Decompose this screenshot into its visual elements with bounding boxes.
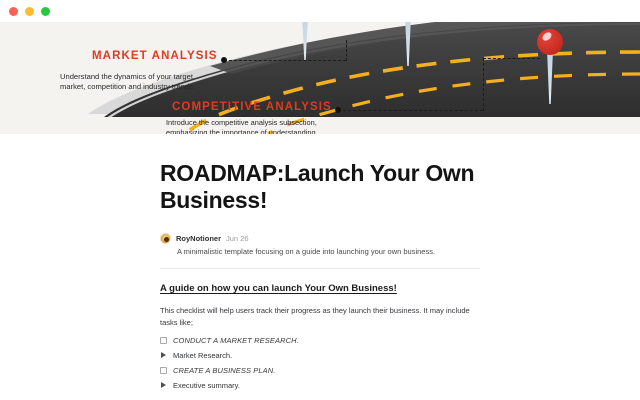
connector-vertical-market xyxy=(346,40,347,61)
checkbox-icon[interactable] xyxy=(160,337,167,344)
connector-vertical-competitive xyxy=(483,58,484,111)
cover-heading-competitive-analysis: COMPETITIVE ANALYSIS xyxy=(172,101,332,113)
chevron-right-icon[interactable] xyxy=(161,352,166,358)
toggle-item-market-research[interactable]: Market Research. xyxy=(161,351,640,360)
avatar xyxy=(160,233,171,244)
checkbox-icon[interactable] xyxy=(160,367,167,374)
minimize-button[interactable] xyxy=(25,7,34,16)
window-titlebar xyxy=(0,0,640,22)
bullet-competitive-analysis xyxy=(335,107,341,113)
checklist: CONDUCT A MARKET RESEARCH. Market Resear… xyxy=(160,336,640,390)
section-link[interactable]: A guide on how you can launch Your Own B… xyxy=(160,283,397,294)
list-item-label: Market Research. xyxy=(173,351,232,360)
cover-body-market-analysis: Understand the dynamics of your target m… xyxy=(60,72,195,93)
bullet-market-analysis xyxy=(221,57,227,63)
connector-line-market xyxy=(224,60,346,61)
page-subtitle: A minimalistic template focusing on a gu… xyxy=(177,247,640,256)
author-row: RoyNotioner Jun 26 xyxy=(160,233,640,244)
author-date: Jun 26 xyxy=(226,234,249,243)
list-item-label: CONDUCT A MARKET RESEARCH. xyxy=(173,336,299,345)
chevron-right-icon[interactable] xyxy=(161,382,166,388)
app-window: MARKET ANALYSIS Understand the dynamics … xyxy=(0,0,640,400)
intro-paragraph: This checklist will help users track the… xyxy=(160,305,482,328)
connector-top-competitive xyxy=(483,58,540,59)
cover-banner: MARKET ANALYSIS Understand the dynamics … xyxy=(0,22,640,134)
maximize-button[interactable] xyxy=(41,7,50,16)
list-item-label: CREATE A BUSINESS PLAN. xyxy=(173,366,275,375)
author-name[interactable]: RoyNotioner xyxy=(176,234,221,243)
page-title: ROADMAP:Launch Your Own Business! xyxy=(160,160,480,214)
todo-item-business-plan[interactable]: CREATE A BUSINESS PLAN. xyxy=(160,366,640,375)
cover-body-competitive-analysis: Introduce the competitive analysis subse… xyxy=(166,118,317,134)
document-page: ROADMAP:Launch Your Own Business! RoyNot… xyxy=(0,134,640,400)
toggle-item-executive-summary[interactable]: Executive summary. xyxy=(161,381,640,390)
list-item-label: Executive summary. xyxy=(173,381,240,390)
close-button[interactable] xyxy=(9,7,18,16)
cover-heading-market-analysis: MARKET ANALYSIS xyxy=(92,50,218,62)
divider xyxy=(160,268,480,269)
connector-line-competitive xyxy=(338,110,483,111)
todo-item-market-research[interactable]: CONDUCT A MARKET RESEARCH. xyxy=(160,336,640,345)
